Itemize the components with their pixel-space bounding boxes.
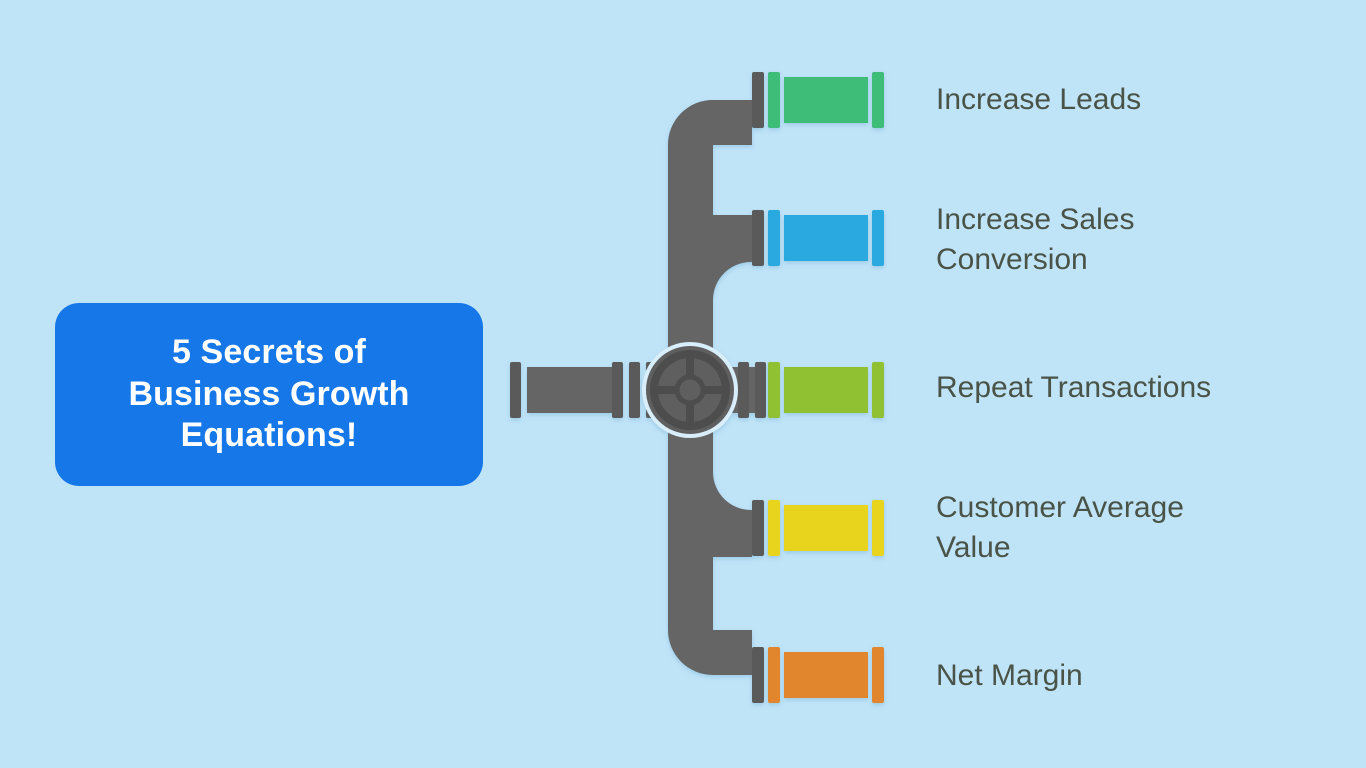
pipe-increase-leads-inner-flange [768,72,780,128]
gray-flange-row5 [752,647,764,703]
pipe-net-margin-outer-flange [872,647,884,703]
inlet-end-flange [510,362,521,418]
branch-label-repeat-transactions: Repeat Transactions [936,368,1336,408]
branch-tee-row2 [713,215,752,262]
pipe-increase-sales-conversion-outer-flange [872,210,884,266]
valve-hub [677,377,703,403]
pipe-repeat-transactions-outer-flange [872,362,884,418]
branch-label-net-margin: Net Margin [936,656,1336,696]
inlet-flange-a [612,362,623,418]
pipe-increase-sales-conversion-body[interactable] [784,215,868,261]
branch-label-customer-average-value: Customer Average Value [936,488,1336,568]
branch-fillet-row4 [713,472,751,510]
branch-fillet-row2 [713,262,751,300]
pipe-customer-average-value-inner-flange [768,500,780,556]
pipe-repeat-transactions-body[interactable] [784,367,868,413]
gray-flange-row3-b [755,362,766,418]
gray-flange-row2 [752,210,764,266]
branch-label-increase-sales-conversion: Increase Sales Conversion [936,200,1336,280]
pipe-net-margin-body[interactable] [784,652,868,698]
pipe-customer-average-value-outer-flange [872,500,884,556]
pipe-net-margin-inner-flange [768,647,780,703]
gray-flange-row4 [752,500,764,556]
infographic-canvas: 5 Secrets of Business Growth Equations! [0,0,1366,768]
gray-flange-row3-a [738,362,749,418]
main-inlet-pipe [510,362,657,418]
pipe-increase-sales-conversion-inner-flange [768,210,780,266]
inlet-flange-b [629,362,640,418]
distribution-valve[interactable] [642,342,738,438]
pipe-increase-leads-outer-flange [872,72,884,128]
branch-tee-row4 [713,510,752,557]
pipe-customer-average-value-body[interactable] [784,505,868,551]
pipe-repeat-transactions-inner-flange [768,362,780,418]
colored-branch-pipes [768,72,884,703]
gray-flange-row1 [752,72,764,128]
branch-label-increase-leads: Increase Leads [936,80,1336,120]
pipe-increase-leads-body[interactable] [784,77,868,123]
inlet-pipe-body [527,367,623,413]
